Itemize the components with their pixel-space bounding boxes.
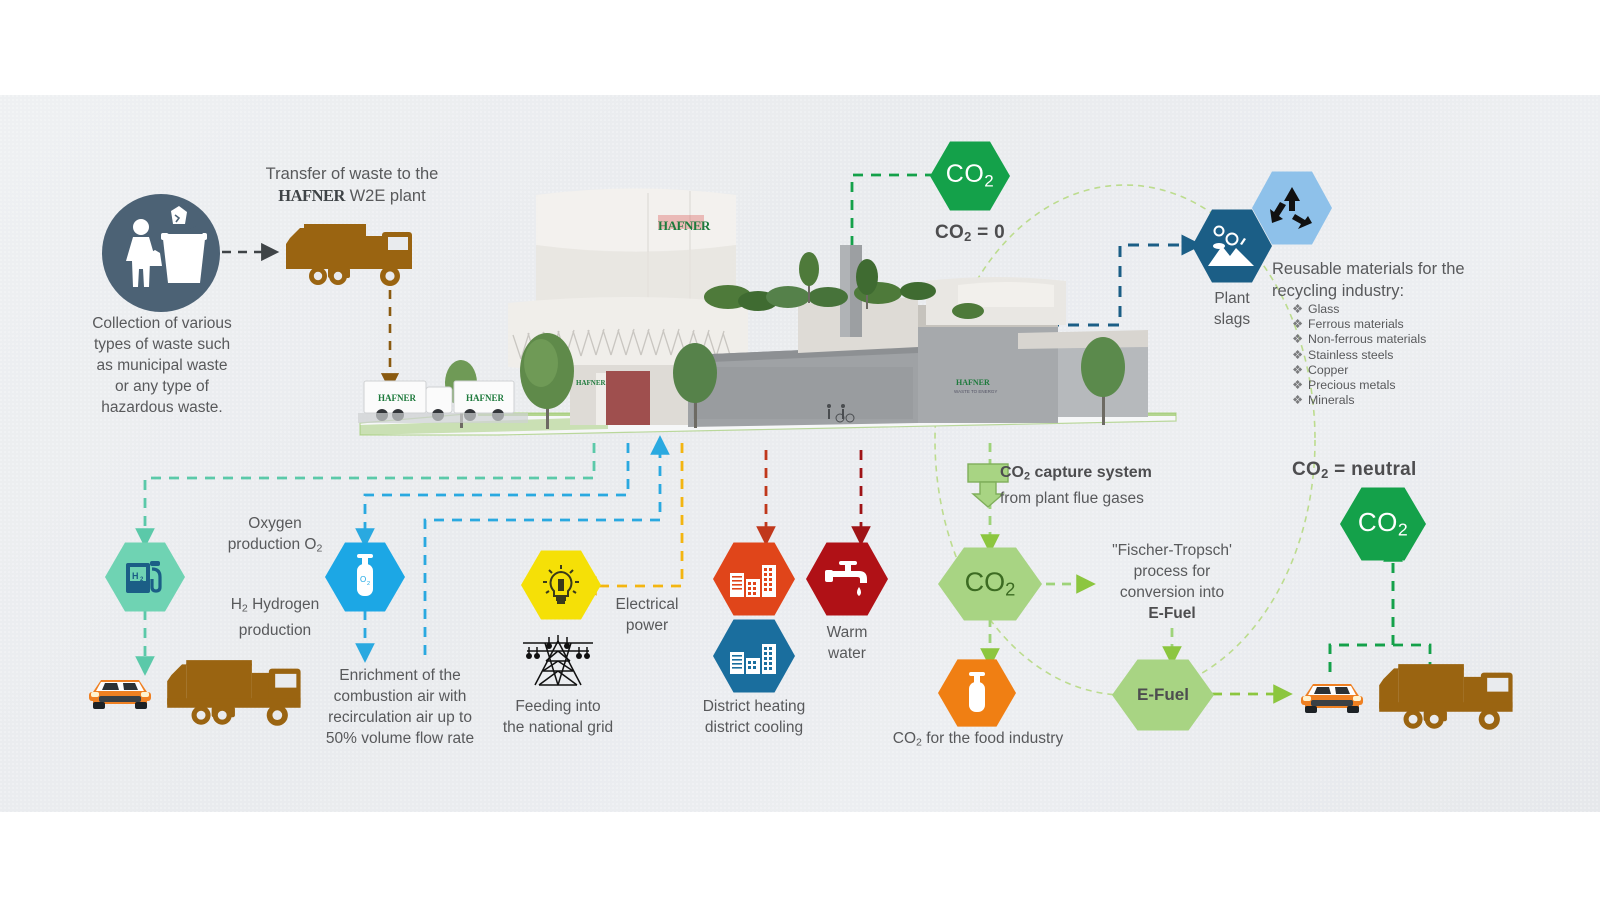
oxygen-caption-line: recirculation air up to — [305, 707, 495, 728]
recycling-heading-line: recycling industry: — [1272, 280, 1572, 302]
list-item: ❖Precious metals — [1292, 378, 1426, 393]
recycling-heading-line: Reusable materials for the — [1272, 258, 1572, 280]
transfer-heading-line1: Transfer of waste to the — [252, 163, 452, 185]
oxygen-heading: Oxygen production O2 — [205, 513, 345, 560]
grid-feed-caption-line: Feeding into — [483, 696, 633, 717]
bullet-icon: ❖ — [1292, 332, 1308, 347]
svg-text:HAFNER: HAFNER — [576, 379, 607, 387]
district-heating-caption: District heating district cooling — [679, 696, 829, 738]
collection-icon — [101, 193, 221, 313]
warm-water-label-line: Warm — [800, 622, 894, 643]
hydrogen-label-line2: production — [175, 620, 375, 641]
oxygen-caption: Enrichment of the combustion air with re… — [305, 665, 495, 749]
fischer-line: conversion into — [1082, 582, 1262, 603]
bullet-icon: ❖ — [1292, 378, 1308, 393]
food-co2-caption: CO2 for the food industry — [872, 728, 1084, 754]
slag-heap-gears-icon — [1206, 222, 1258, 270]
svg-text:HAFNER: HAFNER — [466, 393, 505, 403]
hafner-brand-logo: HAFNER — [278, 186, 345, 205]
co2-zero-caption: CO2 = 0 — [935, 222, 1005, 244]
faucet-tap-icon — [821, 559, 873, 599]
oxygen-cylinder-icon: O 2 — [350, 554, 380, 600]
district-heating-caption-line: District heating — [679, 696, 829, 717]
collection-caption-line: hazardous waste. — [62, 397, 262, 418]
collection-caption-line: or any type of — [62, 376, 262, 397]
svg-text:2: 2 — [367, 581, 370, 587]
grid-feed-caption: Feeding into the national grid — [483, 696, 633, 738]
list-item: ❖Minerals — [1292, 393, 1426, 408]
efuel-truck-icon — [1378, 662, 1518, 734]
oxygen-heading-line1: Oxygen — [205, 513, 345, 534]
buildings-heating-icon — [728, 561, 780, 597]
warm-water-label: Warm water — [800, 622, 894, 664]
bullet-icon: ❖ — [1292, 363, 1308, 378]
list-item: ❖Non-ferrous materials — [1292, 332, 1426, 347]
plant-slags-label: Plant slags — [1182, 288, 1282, 330]
efuel-hexagon-label: E-Fuel — [1137, 685, 1189, 705]
oxygen-caption-line: 50% volume flow rate — [305, 728, 495, 749]
recycling-symbol-icon — [1268, 185, 1316, 231]
fischer-line: process for — [1082, 561, 1262, 582]
co2-neutral-hexagon-label: CO2 — [1358, 507, 1408, 540]
plant-rendering: HAFNER HAFNER — [358, 185, 1178, 445]
co2-zero-hexagon-label: CO2 — [946, 160, 994, 191]
collection-caption: Collection of various types of waste suc… — [62, 313, 262, 418]
warm-water-label-line: water — [800, 643, 894, 664]
buildings-cooling-icon — [728, 638, 780, 674]
recycling-heading: Reusable materials for the recycling ind… — [1272, 258, 1572, 302]
fischer-tropsch-text: "Fischer-Tropsch' process for conversion… — [1082, 540, 1262, 624]
list-item: ❖Copper — [1292, 363, 1426, 378]
collection-caption-line: Collection of various — [62, 313, 262, 334]
electrical-power-label-line: power — [592, 615, 702, 636]
oxygen-heading-line2: production O2 — [205, 534, 345, 560]
list-item: ❖Glass — [1292, 302, 1426, 317]
electrical-power-label: Electrical power — [592, 594, 702, 636]
district-heating-caption-line: district cooling — [679, 717, 829, 738]
list-item: ❖Stainless steels — [1292, 348, 1426, 363]
svg-text:HAFNER: HAFNER — [378, 393, 417, 403]
svg-text:WASTE TO ENERGY: WASTE TO ENERGY — [954, 389, 997, 394]
svg-text:H: H — [132, 571, 139, 581]
co2-neutral-caption: CO2 = neutral — [1292, 459, 1417, 481]
plant-slags-label-line: Plant — [1182, 288, 1282, 309]
hydrogen-car-icon — [85, 672, 155, 716]
efuel-car-icon — [1297, 676, 1367, 720]
infographic-canvas: Collection of various types of waste suc… — [0, 0, 1600, 900]
gas-cylinder-icon — [963, 672, 991, 714]
collection-caption-line: as municipal waste — [62, 355, 262, 376]
bullet-icon: ❖ — [1292, 348, 1308, 363]
fischer-line: "Fischer-Tropsch' — [1082, 540, 1262, 561]
svg-text:HAFNER: HAFNER — [658, 218, 711, 233]
bullet-icon: ❖ — [1292, 393, 1308, 408]
capture-subheading: from plant flue gases — [1000, 488, 1230, 509]
hydrogen-fuel-pump-icon: H 2 — [122, 557, 168, 597]
oxygen-caption-line: Enrichment of the — [305, 665, 495, 686]
electrical-power-label-line: Electrical — [592, 594, 702, 615]
capture-heading: CO2 capture system from plant flue gases — [1000, 462, 1230, 509]
recycling-materials-list: ❖Glass ❖Ferrous materials ❖Non-ferrous m… — [1292, 302, 1426, 408]
plant-slags-label-line: slags — [1182, 309, 1282, 330]
grid-feed-caption-line: the national grid — [483, 717, 633, 738]
collection-caption-line: types of waste such — [62, 334, 262, 355]
svg-text:HAFNER: HAFNER — [956, 378, 990, 387]
capture-heading-text: CO2 capture system — [1000, 462, 1230, 488]
bullet-icon: ❖ — [1292, 317, 1308, 332]
bullet-icon: ❖ — [1292, 302, 1308, 317]
oxygen-caption-line: combustion air with — [305, 686, 495, 707]
co2-captured-label: CO2 — [965, 567, 1016, 601]
fischer-bold-line: E-Fuel — [1082, 603, 1262, 624]
list-item: ❖Ferrous materials — [1292, 317, 1426, 332]
svg-text:O: O — [360, 575, 366, 584]
lightbulb-icon — [540, 563, 582, 607]
hydrogen-truck-icon — [166, 658, 306, 730]
power-pylon-icon — [515, 627, 601, 689]
